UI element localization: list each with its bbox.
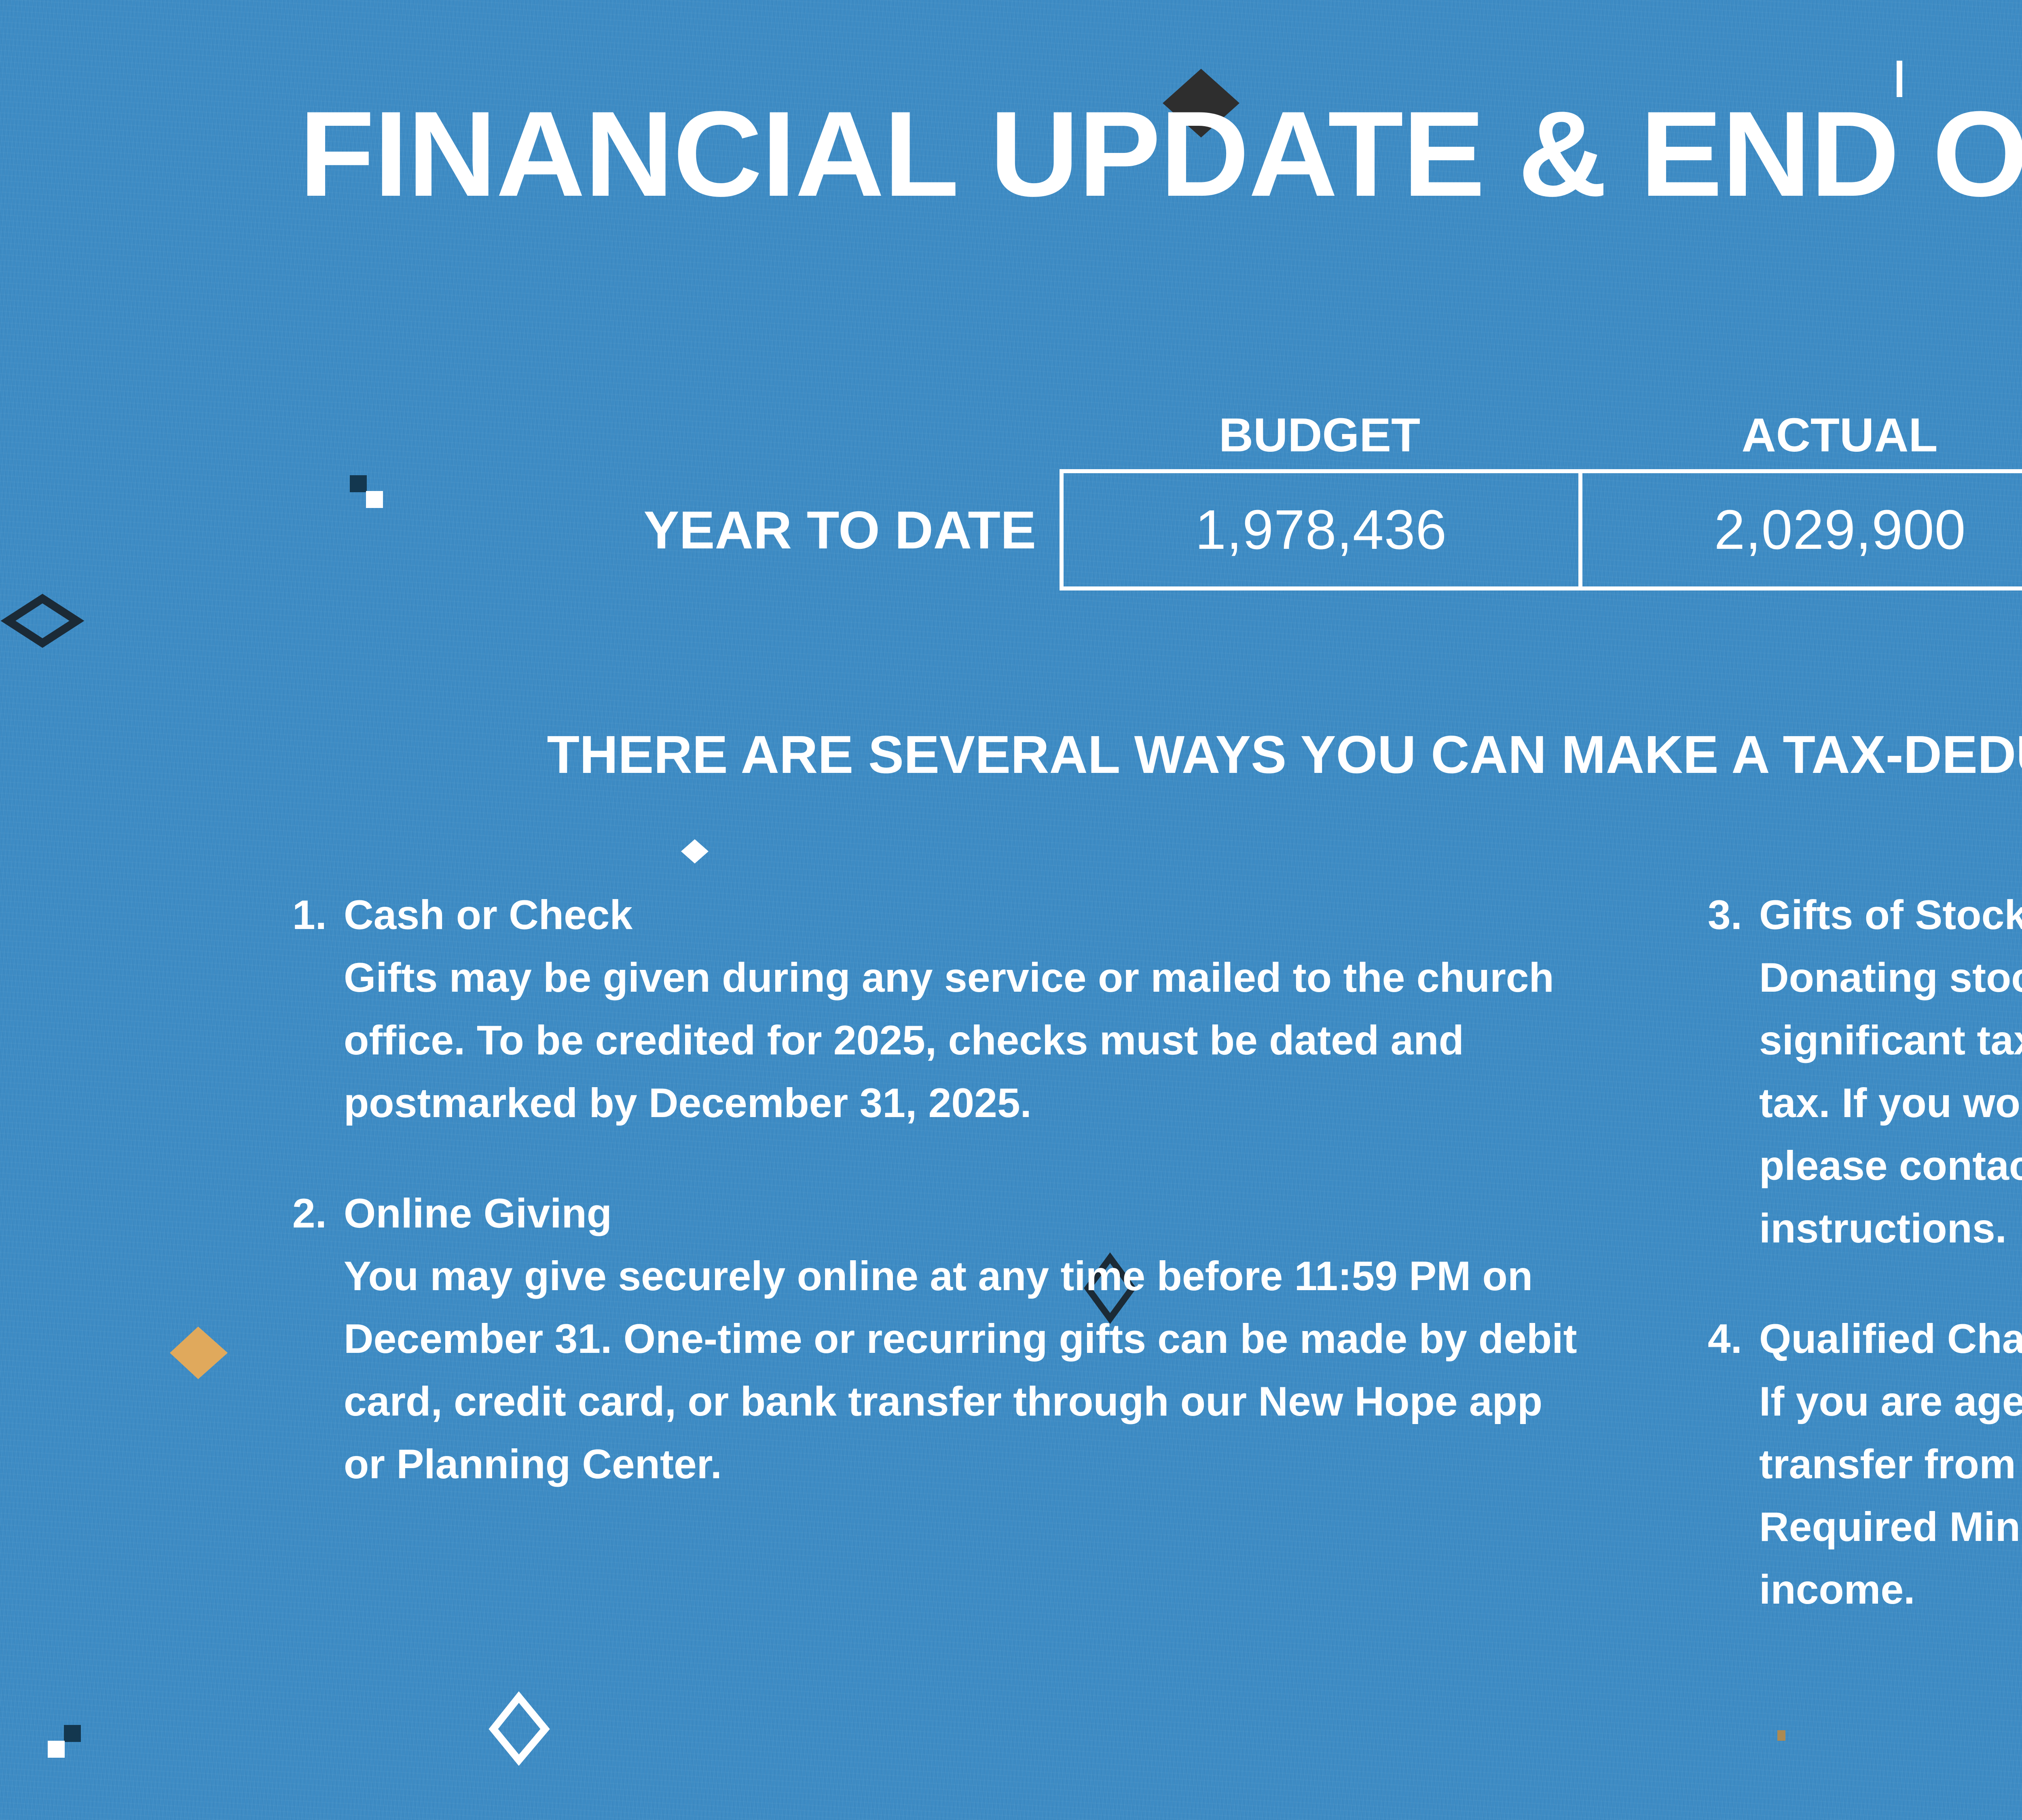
table-value-grid: 1,978,436 2,029,900 51,464 (1060, 469, 2022, 590)
column-header-budget: BUDGET (1060, 408, 1580, 469)
list-item: 2. Online Giving You may give securely o… (283, 1182, 1577, 1496)
list-item-text: Gifts may be given during any service or… (344, 946, 1577, 1134)
list-item-text: Donating stocks, mutual funds, or other … (1759, 946, 2022, 1260)
list-item: 1. Cash or Check Gifts may be given duri… (283, 884, 1577, 1134)
cell-actual-value: 2,029,900 (1578, 473, 2022, 586)
table-header-row: BUDGET ACTUAL OVERAGE/ (SHORTAGE) (429, 307, 2022, 469)
list-item-number: 4. (1698, 1308, 1759, 1621)
list-item-title: Cash or Check (344, 884, 1577, 946)
list-item-number: 1. (283, 884, 344, 1134)
column-header-actual: ACTUAL (1580, 408, 2022, 469)
section-subheading: THERE ARE SEVERAL WAYS YOU CAN MAKE A TA… (0, 724, 2022, 785)
list-item-title: Qualified Charitable Distributions (QCDs… (1759, 1308, 2022, 1370)
list-item-title: Online Giving (344, 1182, 1577, 1245)
list-item-body: Online Giving You may give securely onli… (344, 1182, 1577, 1496)
list-item-number: 3. (1698, 884, 1759, 1260)
list-item: 3. Gifts of Stock or Appreciated Securit… (1698, 884, 2022, 1260)
list-item-body: Gifts of Stock or Appreciated Securities… (1759, 884, 2022, 1260)
cell-budget-value: 1,978,436 (1064, 473, 1578, 586)
giving-options-columns: 1. Cash or Check Gifts may be given duri… (283, 884, 2022, 1621)
list-item-body: Qualified Charitable Distributions (QCDs… (1759, 1308, 2022, 1621)
list-item-text: If you are age 70½ years old or older, y… (1759, 1370, 2022, 1621)
list-item-body: Cash or Check Gifts may be given during … (344, 884, 1577, 1134)
list-item-number: 2. (283, 1182, 344, 1496)
list-item-title: Gifts of Stock or Appreciated Securities (1759, 884, 2022, 946)
list-item-text: You may give securely online at any time… (344, 1245, 1577, 1496)
table-data-row: YEAR TO DATE 1,978,436 2,029,900 51,464 (429, 469, 2022, 590)
list-column-left: 1. Cash or Check Gifts may be given duri… (283, 884, 1577, 1621)
financial-summary-table: BUDGET ACTUAL OVERAGE/ (SHORTAGE) YEAR T… (429, 307, 2022, 590)
list-item: 4. Qualified Charitable Distributions (Q… (1698, 1308, 2022, 1621)
list-column-right: 3. Gifts of Stock or Appreciated Securit… (1698, 884, 2022, 1621)
row-label-year-to-date: YEAR TO DATE (429, 469, 1060, 590)
page-title: FINANCIAL UPDATE & END OF YEAR GIVING (0, 93, 2022, 214)
